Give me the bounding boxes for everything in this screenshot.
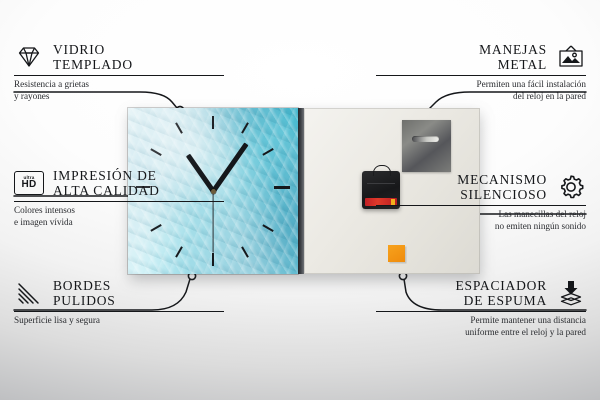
diamond-icon [14, 42, 44, 72]
callout-title: VIDRIO TEMPLADO [53, 42, 133, 72]
polished-edges-icon [14, 278, 44, 308]
callout-heading: VIDRIO TEMPLADO [14, 42, 224, 72]
picture-frame-icon [556, 42, 586, 72]
callout-heading: ultra HD IMPRESIÓN DE ALTA CALIDAD [14, 168, 224, 198]
callout-rule [14, 311, 224, 312]
callout-rule [376, 205, 586, 206]
callout-description: Superficie lisa y segura [14, 315, 224, 327]
callout-rule [376, 311, 586, 312]
foam-spacer [388, 245, 405, 262]
infographic-canvas: VIDRIO TEMPLADO Resistencia a grietas y … [0, 0, 600, 400]
callout-rule [376, 75, 586, 76]
callout-heading: BORDES PULIDOS [14, 278, 224, 308]
feature-callout-mecanismo-silencioso: MECANISMO SILENCIOSO Las manecillas del … [376, 172, 586, 232]
callout-title: IMPRESIÓN DE ALTA CALIDAD [53, 168, 160, 198]
callout-title: ESPACIADOR DE ESPUMA [455, 278, 547, 308]
callout-description: Resistencia a grietas y rayones [14, 79, 224, 102]
callout-title: MANEJAS METAL [479, 42, 547, 72]
feature-callout-bordes-pulidos: BORDES PULIDOS Superficie lisa y segura [14, 278, 224, 327]
callout-heading: ESPACIADOR DE ESPUMA [376, 278, 586, 308]
feature-callout-espaciador-espuma: ESPACIADOR DE ESPUMA Permite mantener un… [376, 278, 586, 338]
callout-title: MECANISMO SILENCIOSO [457, 172, 547, 202]
clock-marker [212, 116, 214, 129]
hd-badge-big-text: HD [21, 180, 36, 190]
callout-description: Permiten una fácil instalación del reloj… [376, 79, 586, 102]
feature-callout-manejas-metal: MANEJAS METAL Permiten una fácil instala… [376, 42, 586, 102]
feature-callout-vidrio-templado: VIDRIO TEMPLADO Resistencia a grietas y … [14, 42, 224, 102]
clock-marker [212, 253, 214, 266]
callout-description: Colores intensos e imagen vívida [14, 205, 224, 228]
gear-icon [556, 172, 586, 202]
hanger-slot [412, 136, 439, 142]
feature-callout-impresion-alta-calidad: ultra HD IMPRESIÓN DE ALTA CALIDAD Color… [14, 168, 224, 228]
callout-description: Las manecillas del reloj no emiten ningú… [376, 209, 586, 232]
callout-rule [14, 75, 224, 76]
hd-badge: ultra HD [14, 171, 44, 195]
hanger-plate [402, 120, 451, 172]
callout-heading: MANEJAS METAL [376, 42, 586, 72]
callout-rule [14, 201, 224, 202]
callout-description: Permite mantener una distancia uniforme … [376, 315, 586, 338]
callout-title: BORDES PULIDOS [53, 278, 116, 308]
callout-heading: MECANISMO SILENCIOSO [376, 172, 586, 202]
foam-spacer-icon [556, 278, 586, 308]
ultra-hd-icon: ultra HD [14, 168, 44, 198]
clock-marker [274, 186, 290, 189]
